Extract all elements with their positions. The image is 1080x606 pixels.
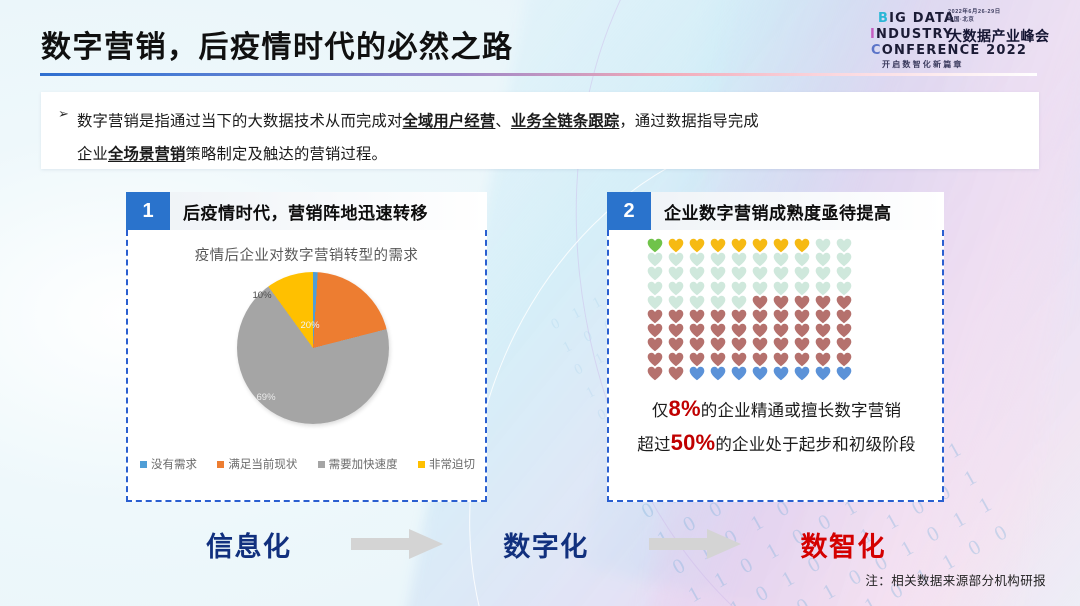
stat2-prefix: 超过 <box>637 436 670 454</box>
logo-date: 2022年6月26-29日 中国·北京 <box>948 8 1001 24</box>
heart-cell-red <box>836 309 852 324</box>
logo-line-2: INDUSTRY <box>870 28 954 41</box>
card2-title: 企业数字营销成熟度亟待提高 <box>651 199 892 224</box>
pie-legend-item: 没有需求 <box>140 456 197 472</box>
heart-cell-pale <box>647 252 663 267</box>
footnote-source: 注：相关数据来源部分机构研报 <box>865 570 1046 589</box>
heart-cell-pale <box>815 252 831 267</box>
heart-cell-red <box>752 352 768 367</box>
heart-cell-pale <box>647 281 663 296</box>
heart-cell-red <box>710 337 726 352</box>
card1-title: 后疫情时代，营销阵地迅速转移 <box>170 199 428 224</box>
heart-cell-pale <box>794 252 810 267</box>
heart-cell-red <box>668 366 684 381</box>
heart-cell-blue <box>836 366 852 381</box>
card-marketing-shift: 1 后疫情时代，营销阵地迅速转移 疫情后企业对数字营销转型的需求 20% 69%… <box>126 192 487 502</box>
heart-cell-red <box>815 309 831 324</box>
heart-cell-red <box>752 337 768 352</box>
heart-cell-red <box>731 337 747 352</box>
logo-line-1: BIG DATA <box>878 12 955 25</box>
flow-step-digitalization: 数字化 <box>503 525 589 564</box>
heart-cell-pale <box>689 281 705 296</box>
heart-cell-red <box>731 352 747 367</box>
heart-cell-red <box>689 309 705 324</box>
card2-number-badge: 2 <box>607 192 651 230</box>
heart-cell-red <box>773 337 789 352</box>
heart-cell-red <box>773 352 789 367</box>
heart-cell-pale <box>836 252 852 267</box>
heart-cell-pale <box>794 266 810 281</box>
heart-cell-pale <box>773 266 789 281</box>
heart-cell-red <box>668 309 684 324</box>
pie-chart: 20% 69% 10% <box>128 272 485 432</box>
pie-legend-label: 没有需求 <box>151 456 197 472</box>
heart-cell-red <box>731 323 747 338</box>
stat-line-1: 仅8%的企业精通或擅长数字营销 <box>619 393 934 427</box>
stat1-prefix: 仅 <box>652 402 669 420</box>
heart-cell-red <box>794 337 810 352</box>
heart-cell-red <box>668 337 684 352</box>
card1-header: 1 后疫情时代，营销阵地迅速转移 <box>126 192 487 230</box>
flow-step-intelligentization: 数智化 <box>801 525 887 564</box>
heart-cell-blue <box>794 366 810 381</box>
heart-cell-red <box>836 352 852 367</box>
card1-body: 疫情后企业对数字营销转型的需求 20% 69% 10% 没有需求满足当前现状需要… <box>126 230 487 502</box>
pie-legend: 没有需求满足当前现状需要加快速度非常迫切 <box>134 456 481 472</box>
heart-cell-pale <box>794 281 810 296</box>
heart-cell-red <box>731 309 747 324</box>
intro-line2-c: 策略制定及触达的营销过程。 <box>186 146 387 163</box>
heart-cell-pale <box>752 252 768 267</box>
legend-swatch-icon <box>318 461 325 468</box>
heart-cell-red <box>689 352 705 367</box>
flow-arrow-icon-2 <box>649 529 741 559</box>
heart-cell-red <box>836 295 852 310</box>
heart-cell-red <box>794 323 810 338</box>
heart-cell-yellow <box>710 238 726 253</box>
heart-cell-red <box>647 337 663 352</box>
heart-cell-red <box>794 352 810 367</box>
heart-cell-red <box>773 309 789 324</box>
intro-line1-a: 数字营销是指通过当下的大数据技术从而完成对 <box>77 113 402 130</box>
pie-label-satisfied: 20% <box>301 320 320 331</box>
legend-swatch-icon <box>418 461 425 468</box>
pie-legend-label: 需要加快速度 <box>329 456 398 472</box>
heart-cell-red <box>710 309 726 324</box>
heart-cell-red <box>773 323 789 338</box>
heart-cell-pale <box>836 238 852 253</box>
heart-cell-red <box>689 323 705 338</box>
pie-label-urgent: 10% <box>253 290 272 301</box>
conference-logo: BIG DATA INDUSTRY CONFERENCE 2022 2022年6… <box>870 6 1062 68</box>
heart-cell-pale <box>815 238 831 253</box>
slide-header: 数字营销，后疫情时代的必然之路 BIG DATA INDUSTRY CONFER… <box>0 0 1080 92</box>
card1-number-badge: 1 <box>126 192 170 230</box>
heart-cell-pale <box>836 266 852 281</box>
heart-cell-pale <box>689 295 705 310</box>
pie-legend-item: 非常迫切 <box>418 456 475 472</box>
heart-cell-red <box>773 295 789 310</box>
heart-cell-yellow <box>731 238 747 253</box>
heart-cell-red <box>815 323 831 338</box>
heart-cell-green <box>647 238 663 253</box>
heart-waffle-chart <box>647 238 857 380</box>
heart-cell-yellow <box>752 238 768 253</box>
heart-cell-pale <box>815 266 831 281</box>
heart-cell-red <box>647 323 663 338</box>
heart-cell-pale <box>836 281 852 296</box>
intro-line2-a: 企业 <box>77 146 108 163</box>
heart-cell-pale <box>668 266 684 281</box>
heart-cell-blue <box>815 366 831 381</box>
pie-legend-label: 非常迫切 <box>429 456 475 472</box>
pie-chart-title: 疫情后企业对数字营销转型的需求 <box>128 244 485 265</box>
intro-line1-c: ，通过数据指导完成 <box>619 113 758 130</box>
stat2-suffix: 的企业处于起步和初级阶段 <box>715 436 915 454</box>
heart-cell-red <box>836 337 852 352</box>
heart-cell-yellow <box>794 238 810 253</box>
heart-cell-blue <box>773 366 789 381</box>
intro-keyword-2: 业务全链条跟踪 <box>511 113 619 130</box>
heart-cell-pale <box>731 281 747 296</box>
heart-cell-red <box>836 323 852 338</box>
heart-cell-red <box>668 323 684 338</box>
stat1-suffix: 的企业精通或擅长数字营销 <box>701 402 901 420</box>
heart-cell-red <box>794 309 810 324</box>
intro-definition-box: ➢ 数字营销是指通过当下的大数据技术从而完成对全域用户经营、业务全链条跟踪，通过… <box>41 92 1039 169</box>
card2-header: 2 企业数字营销成熟度亟待提高 <box>607 192 944 230</box>
heart-cell-pale <box>731 295 747 310</box>
pie-legend-label: 满足当前现状 <box>228 456 297 472</box>
logo-chinese-name: 大数据产业峰会 <box>948 26 1050 46</box>
heart-cell-blue <box>689 366 705 381</box>
heart-cell-yellow <box>773 238 789 253</box>
heart-cell-red <box>710 352 726 367</box>
evolution-flow: 信息化 数字化 数智化 <box>206 520 886 568</box>
heart-cell-pale <box>710 281 726 296</box>
heart-cell-pale <box>731 252 747 267</box>
bullet-arrow-icon: ➢ <box>58 107 69 120</box>
legend-swatch-icon <box>140 461 147 468</box>
card-maturity: 2 企业数字营销成熟度亟待提高 仅8%的企业精通或擅长数字营销 超过50%的企业… <box>607 192 944 502</box>
stat-line-2: 超过50%的企业处于起步和初级阶段 <box>619 427 934 461</box>
heart-cell-blue <box>710 366 726 381</box>
intro-keyword-3: 全场景营销 <box>108 146 186 163</box>
heart-cell-pale <box>752 266 768 281</box>
heart-cell-red <box>752 295 768 310</box>
title-divider <box>40 73 1037 76</box>
intro-text: 数字营销是指通过当下的大数据技术从而完成对全域用户经营、业务全链条跟踪，通过数据… <box>77 105 1021 171</box>
logo-slogan: 开启数智化新篇章 <box>882 59 964 70</box>
intro-keyword-1: 全域用户经营 <box>402 113 495 130</box>
heart-cell-pale <box>773 281 789 296</box>
maturity-stats: 仅8%的企业精通或擅长数字营销 超过50%的企业处于起步和初级阶段 <box>619 393 934 461</box>
flow-arrow-icon-1 <box>351 529 443 559</box>
heart-cell-pale <box>731 266 747 281</box>
pie-label-accelerate: 69% <box>257 392 276 403</box>
heart-cell-pale <box>815 281 831 296</box>
heart-cell-yellow <box>689 238 705 253</box>
heart-cell-yellow <box>668 238 684 253</box>
heart-cell-blue <box>731 366 747 381</box>
stat2-value: 50% <box>671 430 716 455</box>
pie-legend-item: 满足当前现状 <box>217 456 297 472</box>
heart-cell-pale <box>689 266 705 281</box>
heart-cell-pale <box>668 281 684 296</box>
heart-cell-red <box>689 337 705 352</box>
heart-cell-red <box>794 295 810 310</box>
heart-cell-pale <box>668 252 684 267</box>
heart-cell-pale <box>689 252 705 267</box>
heart-cell-red <box>815 295 831 310</box>
flow-step-informatization: 信息化 <box>206 525 292 564</box>
heart-cell-pale <box>668 295 684 310</box>
heart-cell-pale <box>647 266 663 281</box>
heart-cell-red <box>815 352 831 367</box>
heart-cell-red <box>710 323 726 338</box>
legend-swatch-icon <box>217 461 224 468</box>
page-title: 数字营销，后疫情时代的必然之路 <box>41 22 514 66</box>
pie-legend-item: 需要加快速度 <box>318 456 398 472</box>
intro-separator: 、 <box>495 113 511 130</box>
heart-cell-red <box>668 352 684 367</box>
heart-cell-blue <box>752 366 768 381</box>
stat1-value: 8% <box>669 396 701 421</box>
heart-cell-red <box>752 309 768 324</box>
heart-cell-red <box>647 366 663 381</box>
heart-cell-pale <box>710 295 726 310</box>
card2-body: 仅8%的企业精通或擅长数字营销 超过50%的企业处于起步和初级阶段 <box>607 230 944 502</box>
heart-cell-pale <box>647 295 663 310</box>
heart-cell-pale <box>752 281 768 296</box>
heart-cell-pale <box>773 252 789 267</box>
heart-cell-red <box>647 352 663 367</box>
heart-cell-red <box>647 309 663 324</box>
heart-cell-pale <box>710 252 726 267</box>
heart-cell-pale <box>710 266 726 281</box>
heart-cell-red <box>815 337 831 352</box>
heart-cell-red <box>752 323 768 338</box>
